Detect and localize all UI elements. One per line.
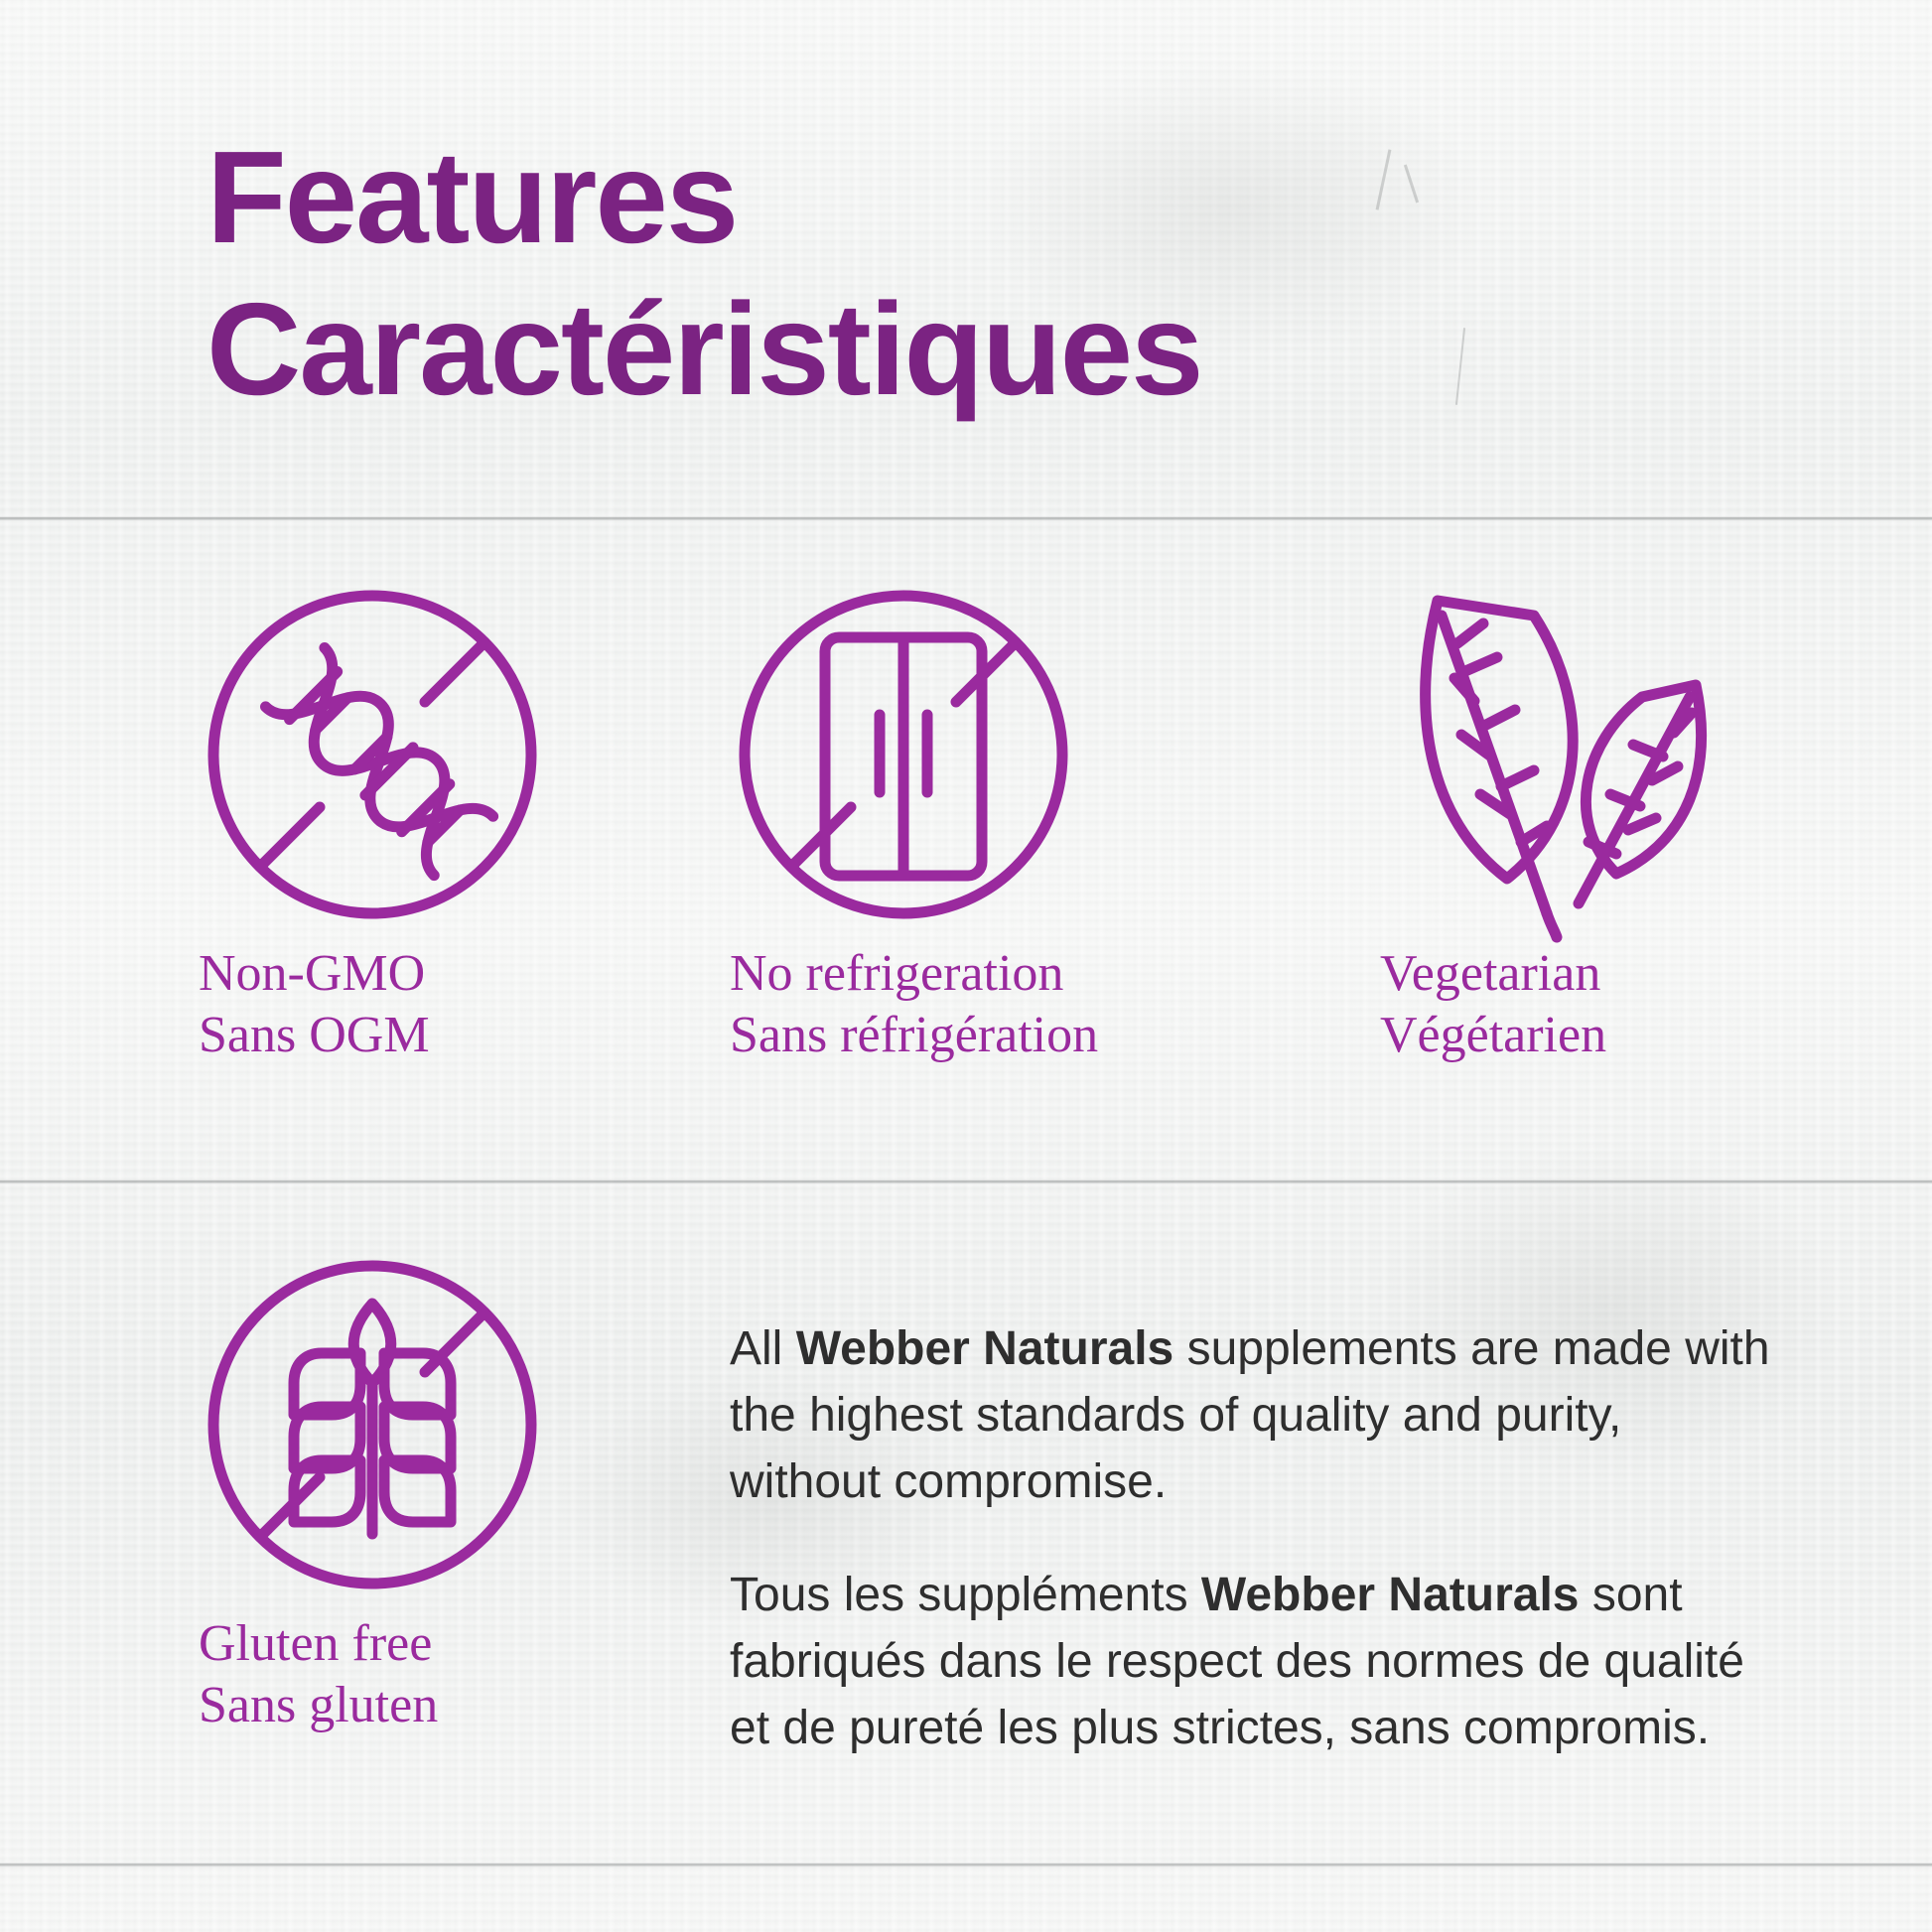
copy-fr-before: Tous les suppléments	[730, 1569, 1201, 1621]
feature-label-non-gmo: Non-GMO Sans OGM	[199, 943, 546, 1067]
wood-grain	[1455, 328, 1465, 405]
brand-name-en: Webber Naturals	[796, 1322, 1174, 1375]
gluten-free-wheat-icon	[199, 1246, 546, 1613]
page-title-fr: Caractéristiques	[207, 273, 1201, 425]
plank-seam	[0, 516, 1932, 521]
brand-copy-fr: Tous les suppléments Webber Naturals son…	[730, 1562, 1782, 1762]
feature-item-no-refrigeration: No refrigeration Sans réfrigération	[730, 576, 1098, 1067]
feature-label-fr: Sans réfrigération	[730, 1005, 1098, 1066]
wood-grain	[1376, 149, 1392, 209]
vegetarian-leaves-icon	[1380, 576, 1727, 943]
feature-item-non-gmo: Non-GMO Sans OGM	[199, 576, 546, 1067]
feature-label-en: No refrigeration	[730, 945, 1063, 1002]
feature-label-en: Non-GMO	[199, 945, 425, 1002]
page-title: Features Caractéristiques	[207, 121, 1201, 425]
feature-label-no-refrigeration: No refrigeration Sans réfrigération	[730, 943, 1098, 1067]
plank-seam	[0, 1179, 1932, 1184]
brand-copy-en: All Webber Naturals supplements are made…	[730, 1315, 1782, 1516]
copy-en-before: All	[730, 1322, 796, 1375]
feature-label-fr: Sans OGM	[199, 1005, 546, 1066]
no-refrigeration-fridge-icon	[730, 576, 1077, 943]
no-gmo-dna-icon	[199, 576, 546, 943]
brand-copy-block: All Webber Naturals supplements are made…	[730, 1315, 1782, 1807]
feature-label-en: Gluten free	[199, 1615, 432, 1672]
wood-grain	[1404, 165, 1419, 204]
feature-label-fr: Sans gluten	[199, 1675, 546, 1736]
feature-label-en: Vegetarian	[1380, 945, 1600, 1002]
feature-label-vegetarian: Vegetarian Végétarien	[1380, 943, 1727, 1067]
feature-item-gluten-free: Gluten free Sans gluten	[199, 1246, 546, 1737]
plank-seam	[0, 1863, 1932, 1867]
feature-item-vegetarian: Vegetarian Végétarien	[1380, 576, 1727, 1067]
feature-label-gluten-free: Gluten free Sans gluten	[199, 1613, 546, 1737]
feature-panel: Features Caractéristiques	[0, 0, 1932, 1932]
feature-label-fr: Végétarien	[1380, 1005, 1727, 1066]
brand-name-fr: Webber Naturals	[1201, 1569, 1580, 1621]
page-title-en: Features	[207, 124, 737, 270]
